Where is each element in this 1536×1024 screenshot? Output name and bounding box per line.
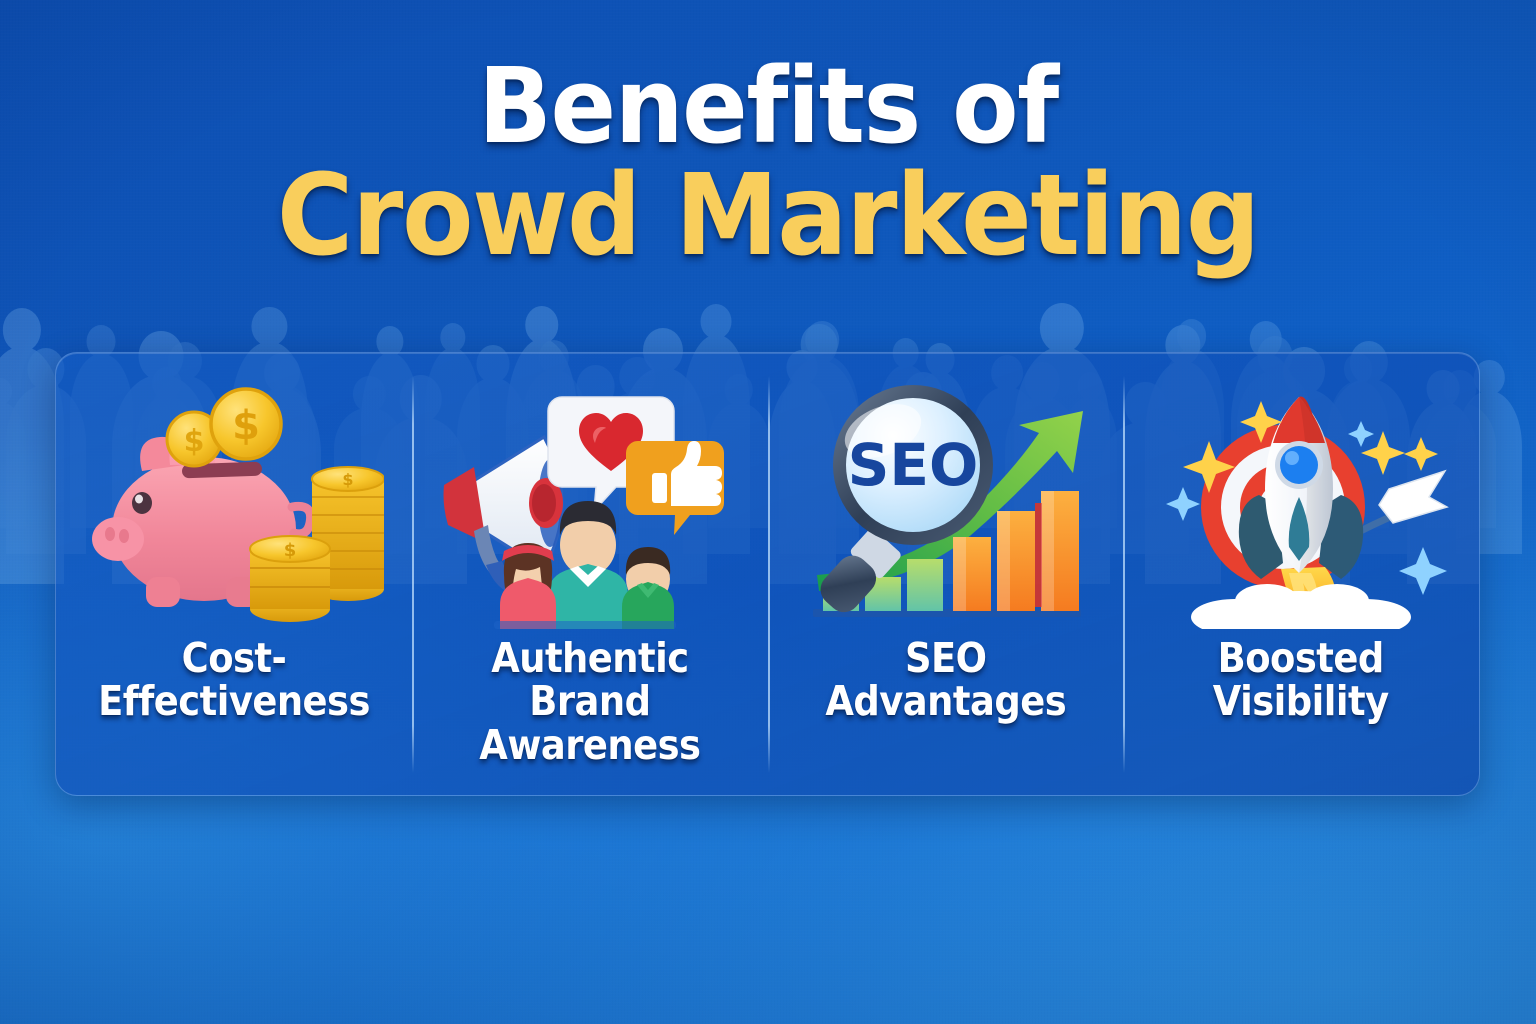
svg-text:$: $ [342,470,353,489]
title-line-secondary: Crowd Marketing [54,162,1482,272]
benefit-label-authentic-brand-awareness: Authentic Brand Awareness [437,637,743,767]
piggy-bank-coins-icon: $ $ [84,379,384,629]
benefit-card-cost-effectiveness[interactable]: $ $ [56,353,412,795]
page-title: Benefits of Crowd Marketing [0,56,1536,272]
svg-text:$: $ [232,403,260,449]
title-line-primary: Benefits of [54,56,1482,158]
benefit-label-cost-effectiveness: Cost- Effectiveness [98,637,370,724]
benefit-card-seo-advantages[interactable]: SEO SEO Advantages [768,353,1124,795]
benefits-panel: $ $ [55,352,1480,796]
seo-magnifier-growth-icon: SEO [795,379,1095,629]
benefit-label-seo-advantages: SEO Advantages [825,637,1066,724]
megaphone-social-icon [440,379,740,629]
rocket-target-icon [1151,379,1451,629]
benefit-card-authentic-brand-awareness[interactable]: Authentic Brand Awareness [412,353,768,795]
benefit-label-boosted-visibility: Boosted Visibility [1213,637,1389,724]
svg-text:$: $ [183,424,204,459]
benefit-card-boosted-visibility[interactable]: Boosted Visibility [1123,353,1479,795]
svg-text:$: $ [284,540,297,561]
seo-text: SEO [848,431,979,499]
